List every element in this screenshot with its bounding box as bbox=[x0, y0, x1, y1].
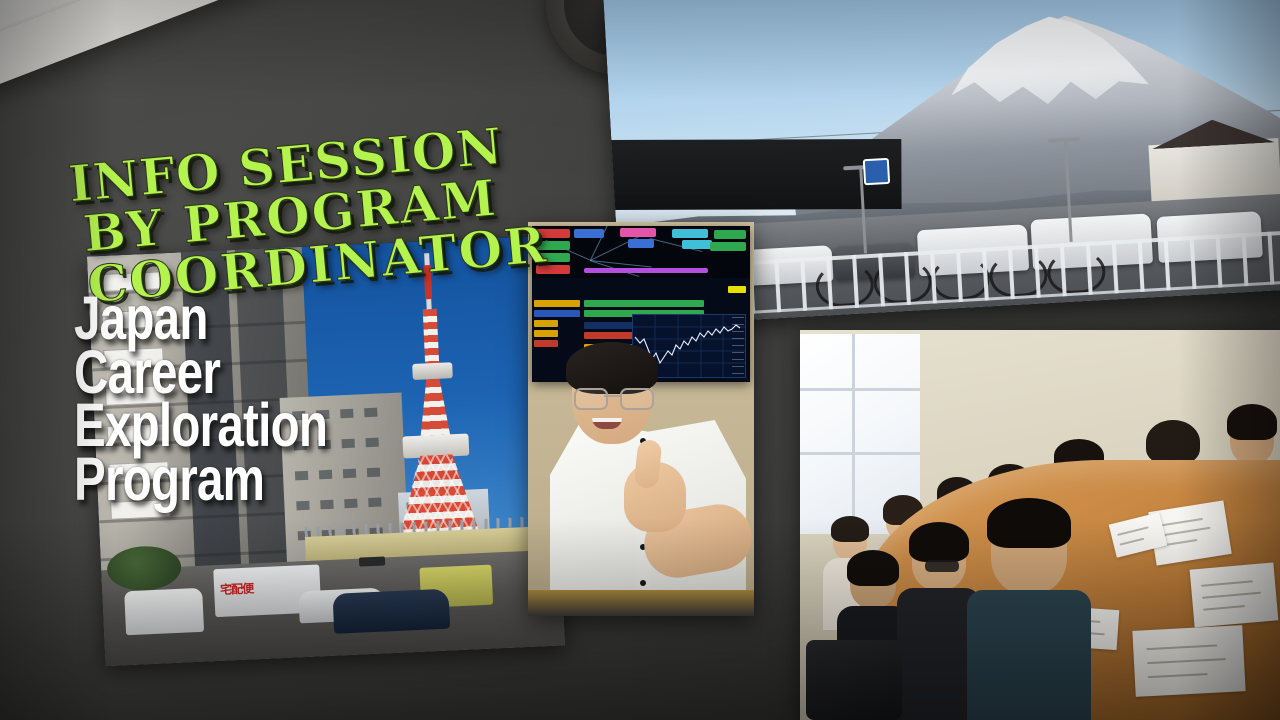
program-title: Japan Career Exploration Program bbox=[74, 292, 327, 507]
handout-paper bbox=[1132, 625, 1245, 697]
photo-bottom-edge bbox=[528, 590, 754, 616]
office-chair bbox=[806, 640, 902, 720]
video-thumbnail: J K L ; ' return N M , . / shift command… bbox=[0, 0, 1280, 720]
tower-white-van bbox=[124, 588, 204, 635]
photo-students-meeting bbox=[800, 330, 1280, 720]
program-title-line-4: Program bbox=[74, 453, 327, 507]
tower-traffic-signal bbox=[359, 556, 385, 566]
truck-japanese-text: 宅配便 bbox=[220, 579, 254, 597]
coordinator-person bbox=[550, 348, 746, 616]
coordinator-hair bbox=[566, 342, 658, 394]
eyeglasses-icon bbox=[574, 388, 650, 406]
tower-taxi bbox=[332, 589, 450, 634]
handout-paper bbox=[1190, 562, 1279, 627]
student-foreground bbox=[966, 508, 1092, 720]
